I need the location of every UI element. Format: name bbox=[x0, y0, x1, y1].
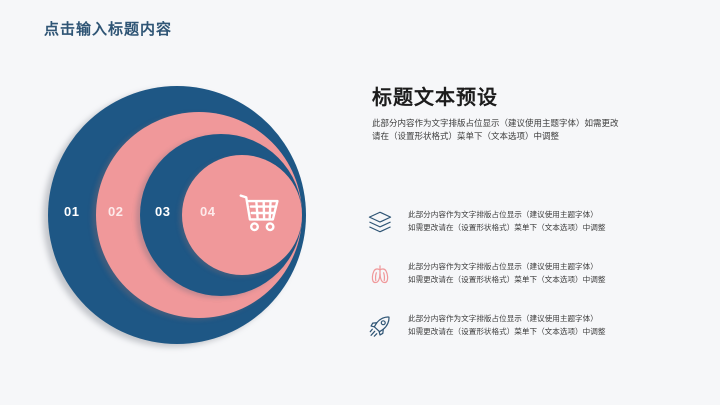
content-column: 标题文本预设 此部分内容作为文字排版占位显示（建议使用主题字体）如需更改请在（设… bbox=[372, 86, 682, 143]
rocket-icon bbox=[364, 310, 396, 342]
feature-list: 此部分内容作为文字排版占位显示（建议使用主题字体） 如需更改请在（设置形状格式）… bbox=[364, 196, 684, 352]
ring-label-02: 02 bbox=[108, 204, 123, 219]
feature-line-2: 如需更改请在（设置形状格式）菜单下（文本选项）中调整 bbox=[408, 222, 605, 235]
shopping-cart-icon bbox=[238, 191, 282, 235]
content-heading: 标题文本预设 bbox=[372, 86, 682, 110]
feature-item[interactable]: 此部分内容作为文字排版占位显示（建议使用主题字体） 如需更改请在（设置形状格式）… bbox=[364, 300, 684, 352]
ring-label-04: 04 bbox=[200, 204, 215, 219]
content-paragraph: 此部分内容作为文字排版占位显示（建议使用主题字体）如需更改请在（设置形状格式）菜… bbox=[372, 117, 622, 143]
feature-text: 此部分内容作为文字排版占位显示（建议使用主题字体） 如需更改请在（设置形状格式）… bbox=[408, 261, 605, 287]
feature-item[interactable]: 此部分内容作为文字排版占位显示（建议使用主题字体） 如需更改请在（设置形状格式）… bbox=[364, 196, 684, 248]
concentric-ring-diagram: 01 02 03 04 bbox=[30, 72, 330, 362]
lungs-icon bbox=[364, 258, 396, 290]
feature-line-1: 此部分内容作为文字排版占位显示（建议使用主题字体） bbox=[408, 261, 605, 274]
feature-item[interactable]: 此部分内容作为文字排版占位显示（建议使用主题字体） 如需更改请在（设置形状格式）… bbox=[364, 248, 684, 300]
ring-label-03: 03 bbox=[155, 204, 170, 219]
slide-title: 点击输入标题内容 bbox=[44, 18, 172, 39]
feature-line-2: 如需更改请在（设置形状格式）菜单下（文本选项）中调整 bbox=[408, 274, 605, 287]
feature-line-2: 如需更改请在（设置形状格式）菜单下（文本选项）中调整 bbox=[408, 326, 605, 339]
feature-line-1: 此部分内容作为文字排版占位显示（建议使用主题字体） bbox=[408, 209, 605, 222]
ring-label-01: 01 bbox=[64, 204, 79, 219]
feature-text: 此部分内容作为文字排版占位显示（建议使用主题字体） 如需更改请在（设置形状格式）… bbox=[408, 313, 605, 339]
feature-line-1: 此部分内容作为文字排版占位显示（建议使用主题字体） bbox=[408, 313, 605, 326]
feature-text: 此部分内容作为文字排版占位显示（建议使用主题字体） 如需更改请在（设置形状格式）… bbox=[408, 209, 605, 235]
layers-icon bbox=[364, 206, 396, 238]
